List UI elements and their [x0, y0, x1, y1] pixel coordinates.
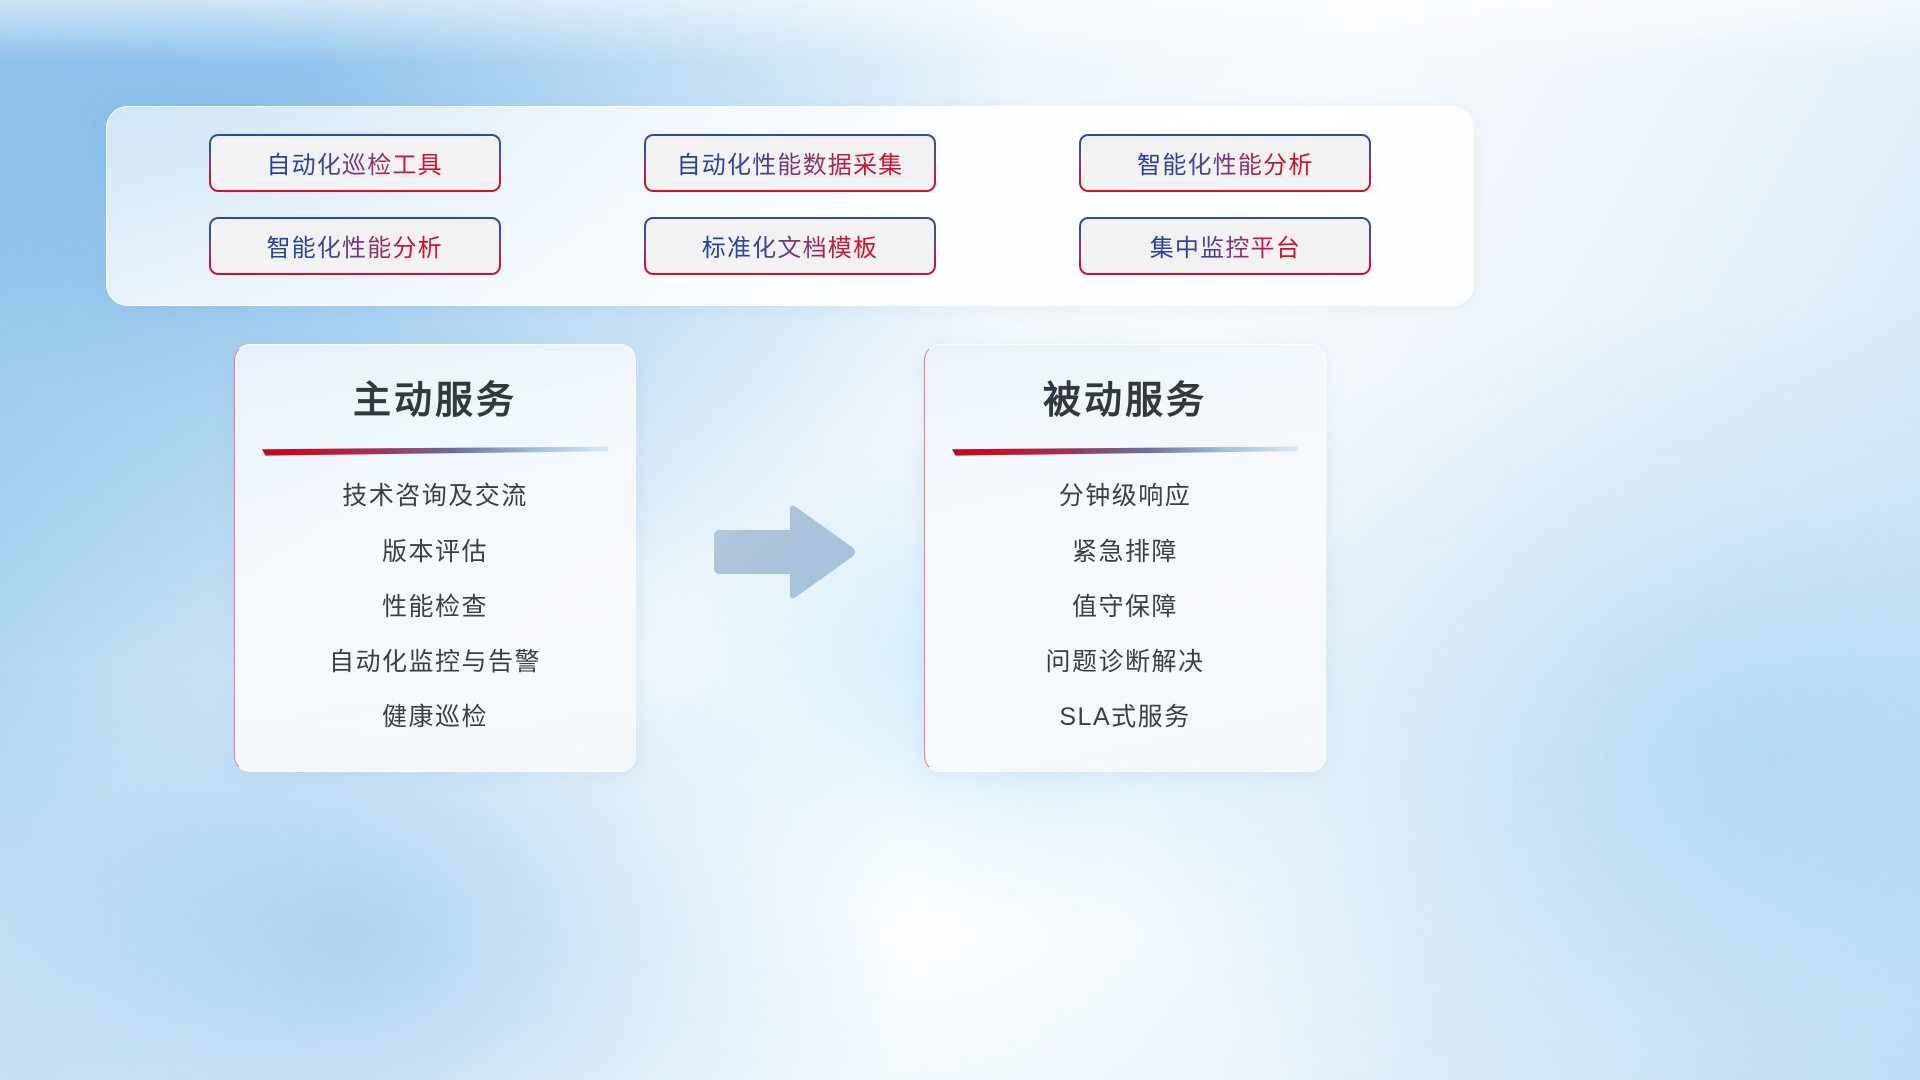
capability-pill-label: 标准化文档模板 — [702, 228, 878, 263]
card-list-item: 技术咨询及交流 — [342, 481, 528, 511]
card-divider — [262, 446, 608, 459]
card-list-item: 紧急排障 — [1072, 537, 1178, 567]
card-title: 被动服务 — [1043, 379, 1207, 424]
card-item-list: 技术咨询及交流 版本评估 性能检查 自动化监控与告警 健康巡检 — [257, 469, 613, 751]
capability-pill-label: 自动化巡检工具 — [266, 145, 442, 180]
card-list-item: 自动化监控与告警 — [329, 647, 541, 677]
capability-pill-4[interactable]: 标准化文档模板 — [644, 217, 936, 275]
arrow-right-icon — [712, 500, 858, 604]
capability-pill-0[interactable]: 自动化巡检工具 — [209, 134, 501, 192]
card-list-item: SLA式服务 — [1059, 702, 1190, 732]
card-item-list: 分钟级响应 紧急排障 值守保障 问题诊断解决 SLA式服务 — [947, 469, 1303, 751]
background-top-fade — [0, 0, 1920, 65]
capability-pill-2[interactable]: 智能化性能分析 — [1079, 134, 1371, 192]
card-list-item: 性能检查 — [382, 592, 488, 622]
card-title: 主动服务 — [353, 379, 517, 424]
capabilities-panel: 自动化巡检工具 自动化性能数据采集 智能化性能分析 智能化性能分析 标准化文档模… — [106, 106, 1474, 306]
card-divider — [952, 446, 1298, 459]
service-card-reactive: 被动服务 分钟级响应 紧急排障 值守保障 问题诊断解决 SLA式服务 — [924, 344, 1326, 772]
card-list-item: 值守保障 — [1072, 592, 1178, 622]
card-list-item: 版本评估 — [382, 537, 488, 567]
capability-pill-1[interactable]: 自动化性能数据采集 — [644, 134, 936, 192]
capability-pill-label: 智能化性能分析 — [1137, 145, 1313, 180]
capability-pill-5[interactable]: 集中监控平台 — [1079, 217, 1371, 275]
service-card-proactive: 主动服务 技术咨询及交流 版本评估 性能检查 自动化监控与告警 健康巡检 — [234, 344, 636, 772]
card-list-item: 健康巡检 — [382, 702, 488, 732]
capability-pill-label: 集中监控平台 — [1150, 228, 1301, 263]
capability-pill-3[interactable]: 智能化性能分析 — [209, 217, 501, 275]
card-list-item: 问题诊断解决 — [1045, 647, 1204, 677]
capability-pill-label: 智能化性能分析 — [266, 228, 442, 263]
capability-pill-label: 自动化性能数据采集 — [677, 145, 904, 180]
card-list-item: 分钟级响应 — [1059, 481, 1192, 511]
